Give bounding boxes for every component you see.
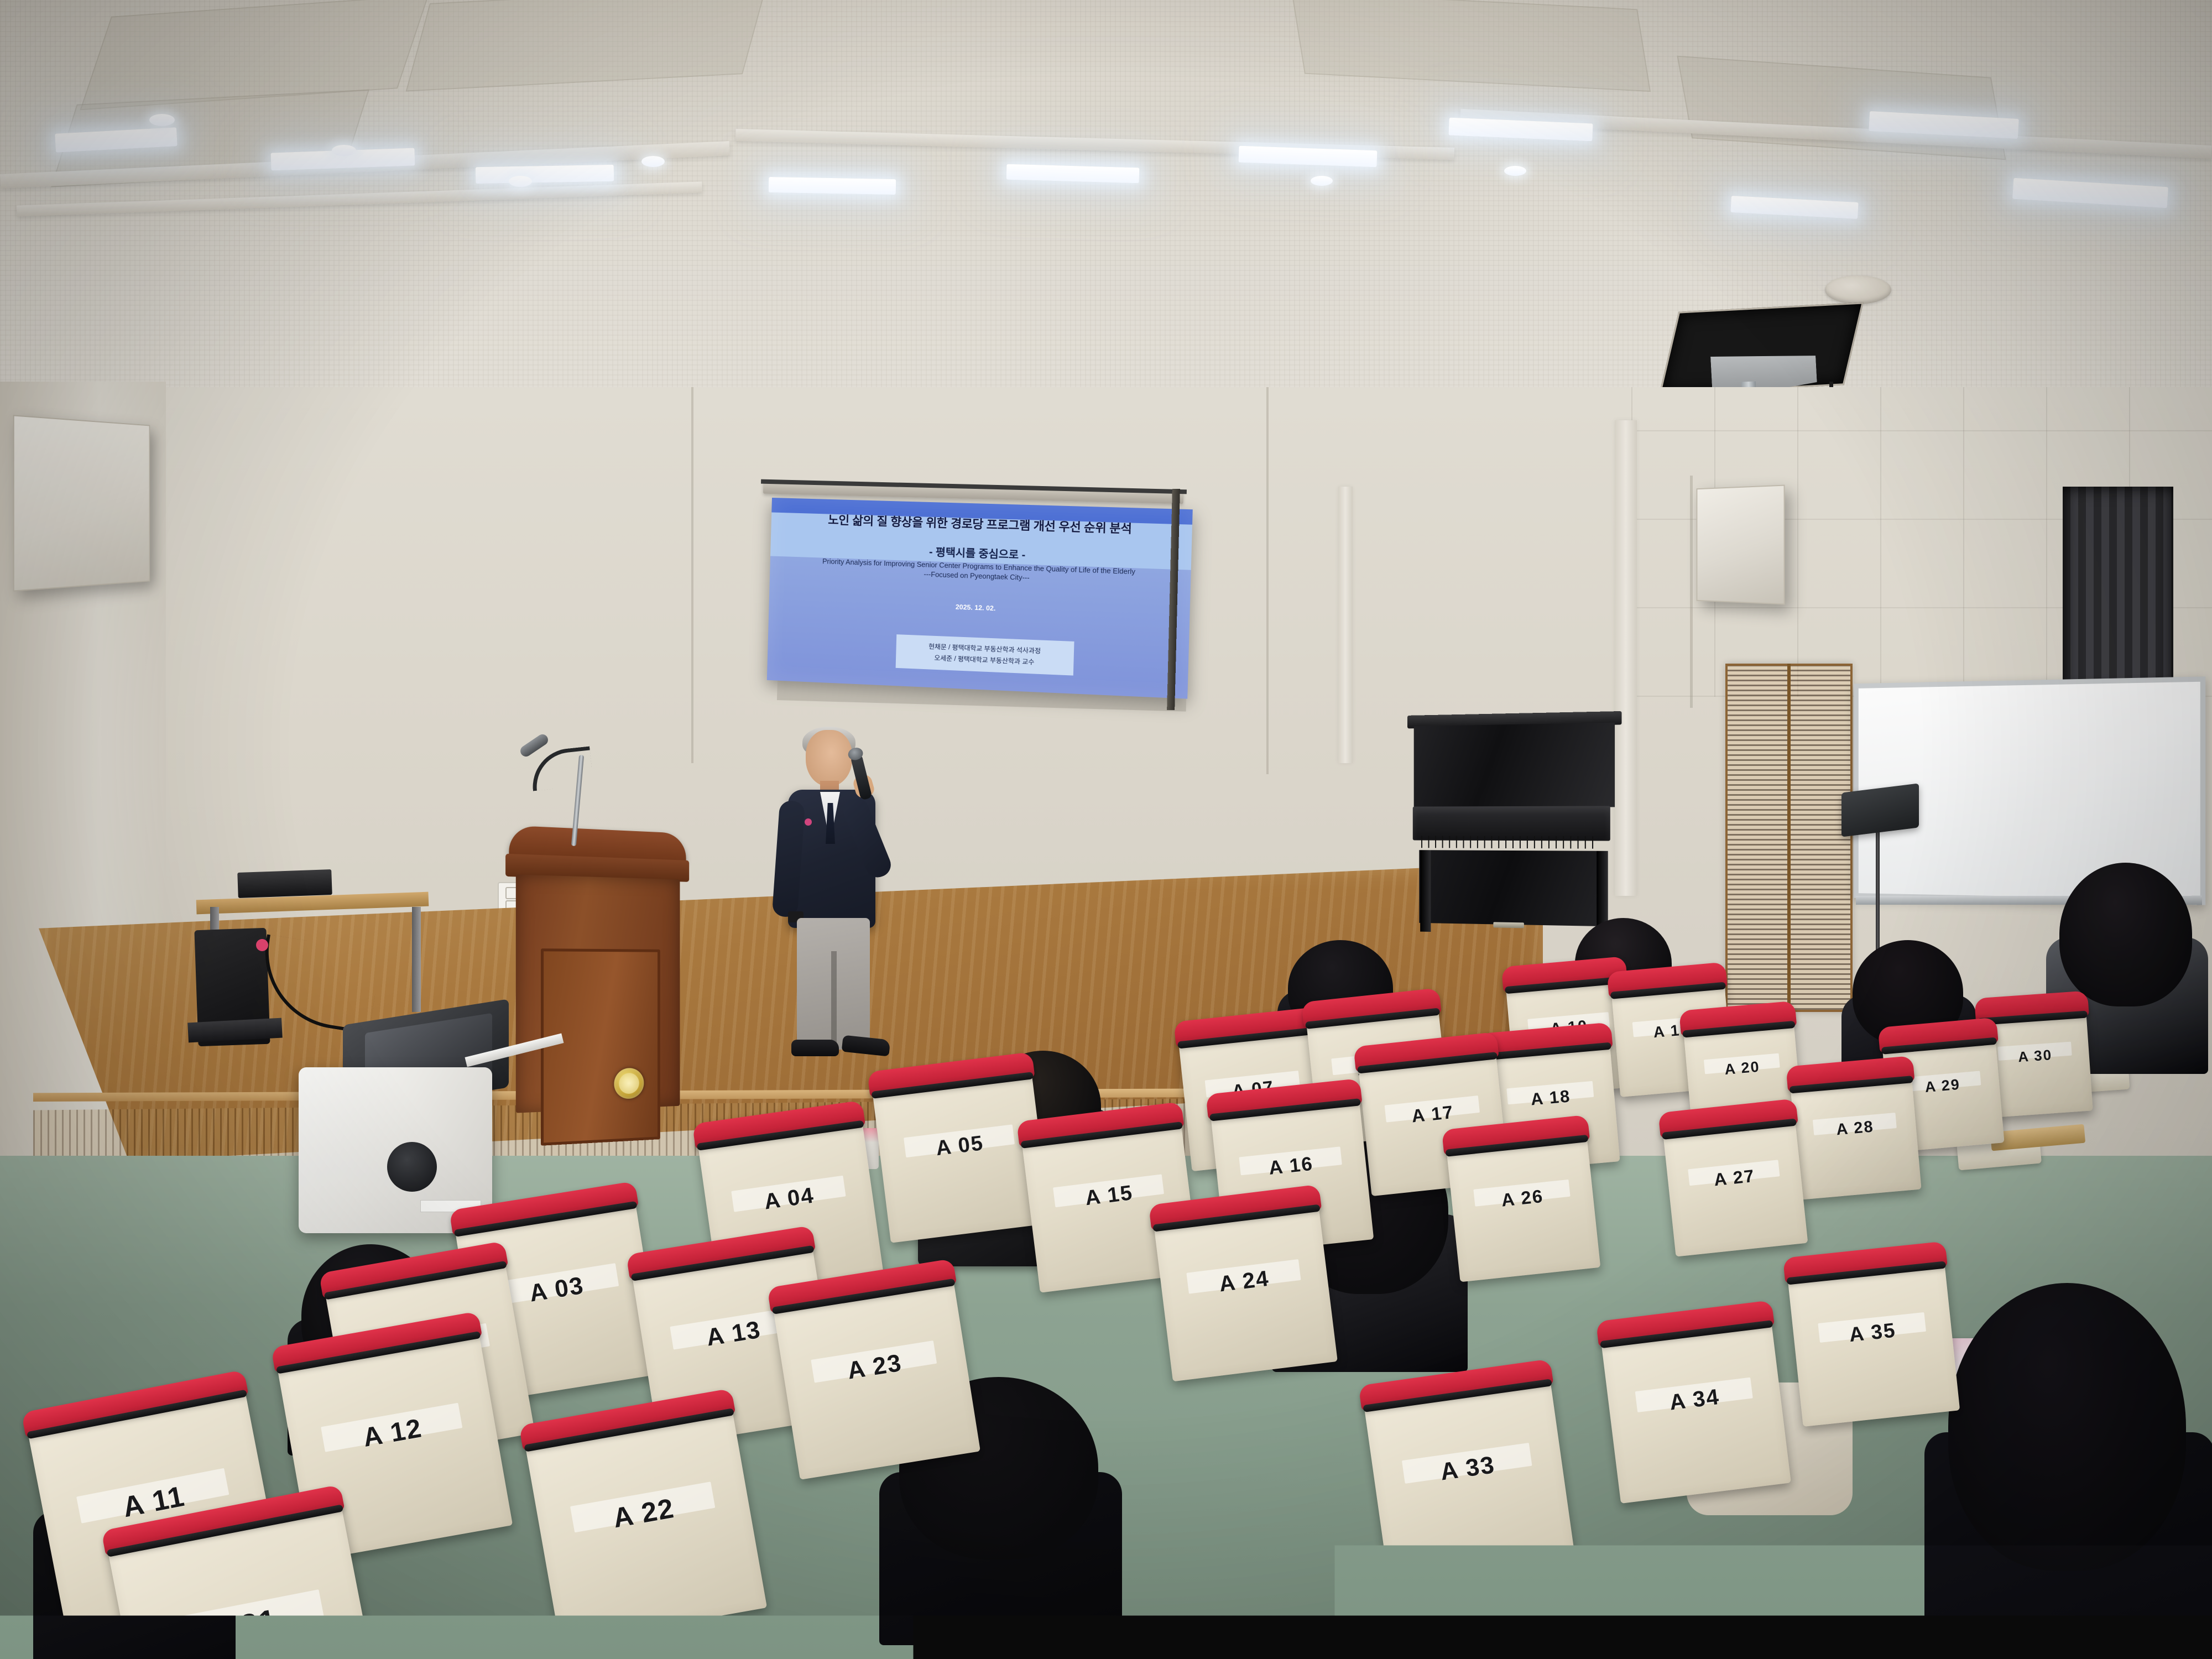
ceiling-downlight: [332, 145, 356, 156]
presenter: [771, 730, 893, 1084]
seat-a-21[interactable]: A 21: [106, 1497, 385, 1659]
seat-a-28[interactable]: A 28: [1790, 1068, 1921, 1199]
presenter-leg-split: [831, 951, 837, 1051]
ceiling-downlight: [149, 114, 175, 126]
slide-date: 2025. 12. 02.: [769, 596, 1190, 620]
podium-front-panel: [541, 948, 660, 1146]
ceiling-downlight: [1311, 176, 1333, 186]
equipment-case-icon: [237, 869, 332, 898]
ceiling-downlight: [641, 156, 665, 167]
av-control-cart[interactable]: [282, 1001, 514, 1233]
slide-credits: 현채문 / 평택대학교 부동산학과 석사과정 오세준 / 평택대학교 부동산학과…: [896, 634, 1074, 676]
ceiling-downlight: [1504, 166, 1526, 176]
piano-pedals-icon: [1493, 922, 1524, 928]
presenter-head: [806, 730, 852, 786]
seat-a-34[interactable]: A 34: [1600, 1312, 1791, 1503]
piano-keyboard: [1421, 836, 1597, 849]
slide-title-ko: 노인 삶의 질 향상을 위한 경로당 프로그램 개선 우선 순위 분석: [771, 512, 1192, 539]
seat-a-35[interactable]: A 35: [1787, 1254, 1960, 1427]
ceiling-speaker-icon: [1825, 275, 1891, 304]
louvered-door-split: [1787, 664, 1791, 1012]
upright-piano: [1407, 711, 1621, 937]
presenter-left-shoe: [791, 1040, 839, 1056]
wall-pilaster: [1338, 487, 1353, 763]
ceiling-light: [769, 177, 896, 195]
university-emblem-icon: [614, 1068, 644, 1099]
ceiling-downlight: [509, 176, 532, 187]
seat-a-23[interactable]: A 23: [771, 1271, 980, 1480]
projection-screen: 노인 삶의 질 향상을 위한 경로당 프로그램 개선 우선 순위 분석 - 평택…: [767, 498, 1193, 699]
seat-a-22[interactable]: A 22: [524, 1401, 767, 1644]
av-cart-dial-icon[interactable]: [387, 1142, 437, 1192]
ceiling-light: [476, 165, 614, 184]
seat-a-33[interactable]: A 33: [1363, 1371, 1575, 1584]
podium: [514, 826, 682, 1121]
piano-leg: [1420, 850, 1431, 932]
attendee-bottom-right-head: [1948, 1283, 2186, 1571]
piano-upper-panel: [1414, 723, 1615, 808]
auditorium-scene: 노인 삶의 질 향상을 위한 경로당 프로그램 개선 우선 순위 분석 - 평택…: [0, 0, 2212, 1659]
wall-seam: [1266, 387, 1269, 774]
piano-lower-panel: [1419, 850, 1608, 926]
attendee-far-right-standing-head: [2059, 863, 2192, 1006]
wall-seam: [1690, 476, 1693, 708]
boom-microphone-knob-icon: [256, 939, 268, 951]
podium-body: [516, 874, 680, 1113]
seat-a-24[interactable]: A 24: [1153, 1197, 1338, 1381]
wall-speaker-icon: [1697, 484, 1785, 604]
wall-speaker-icon: [13, 415, 150, 591]
wall-seam: [691, 387, 693, 763]
equipment-table-leg: [412, 907, 421, 1012]
lapel-pin-icon: [805, 818, 812, 826]
seat-a-27[interactable]: A 27: [1662, 1111, 1808, 1257]
seat-a-26[interactable]: A 26: [1446, 1127, 1600, 1282]
presenter-right-shoe: [842, 1035, 891, 1057]
